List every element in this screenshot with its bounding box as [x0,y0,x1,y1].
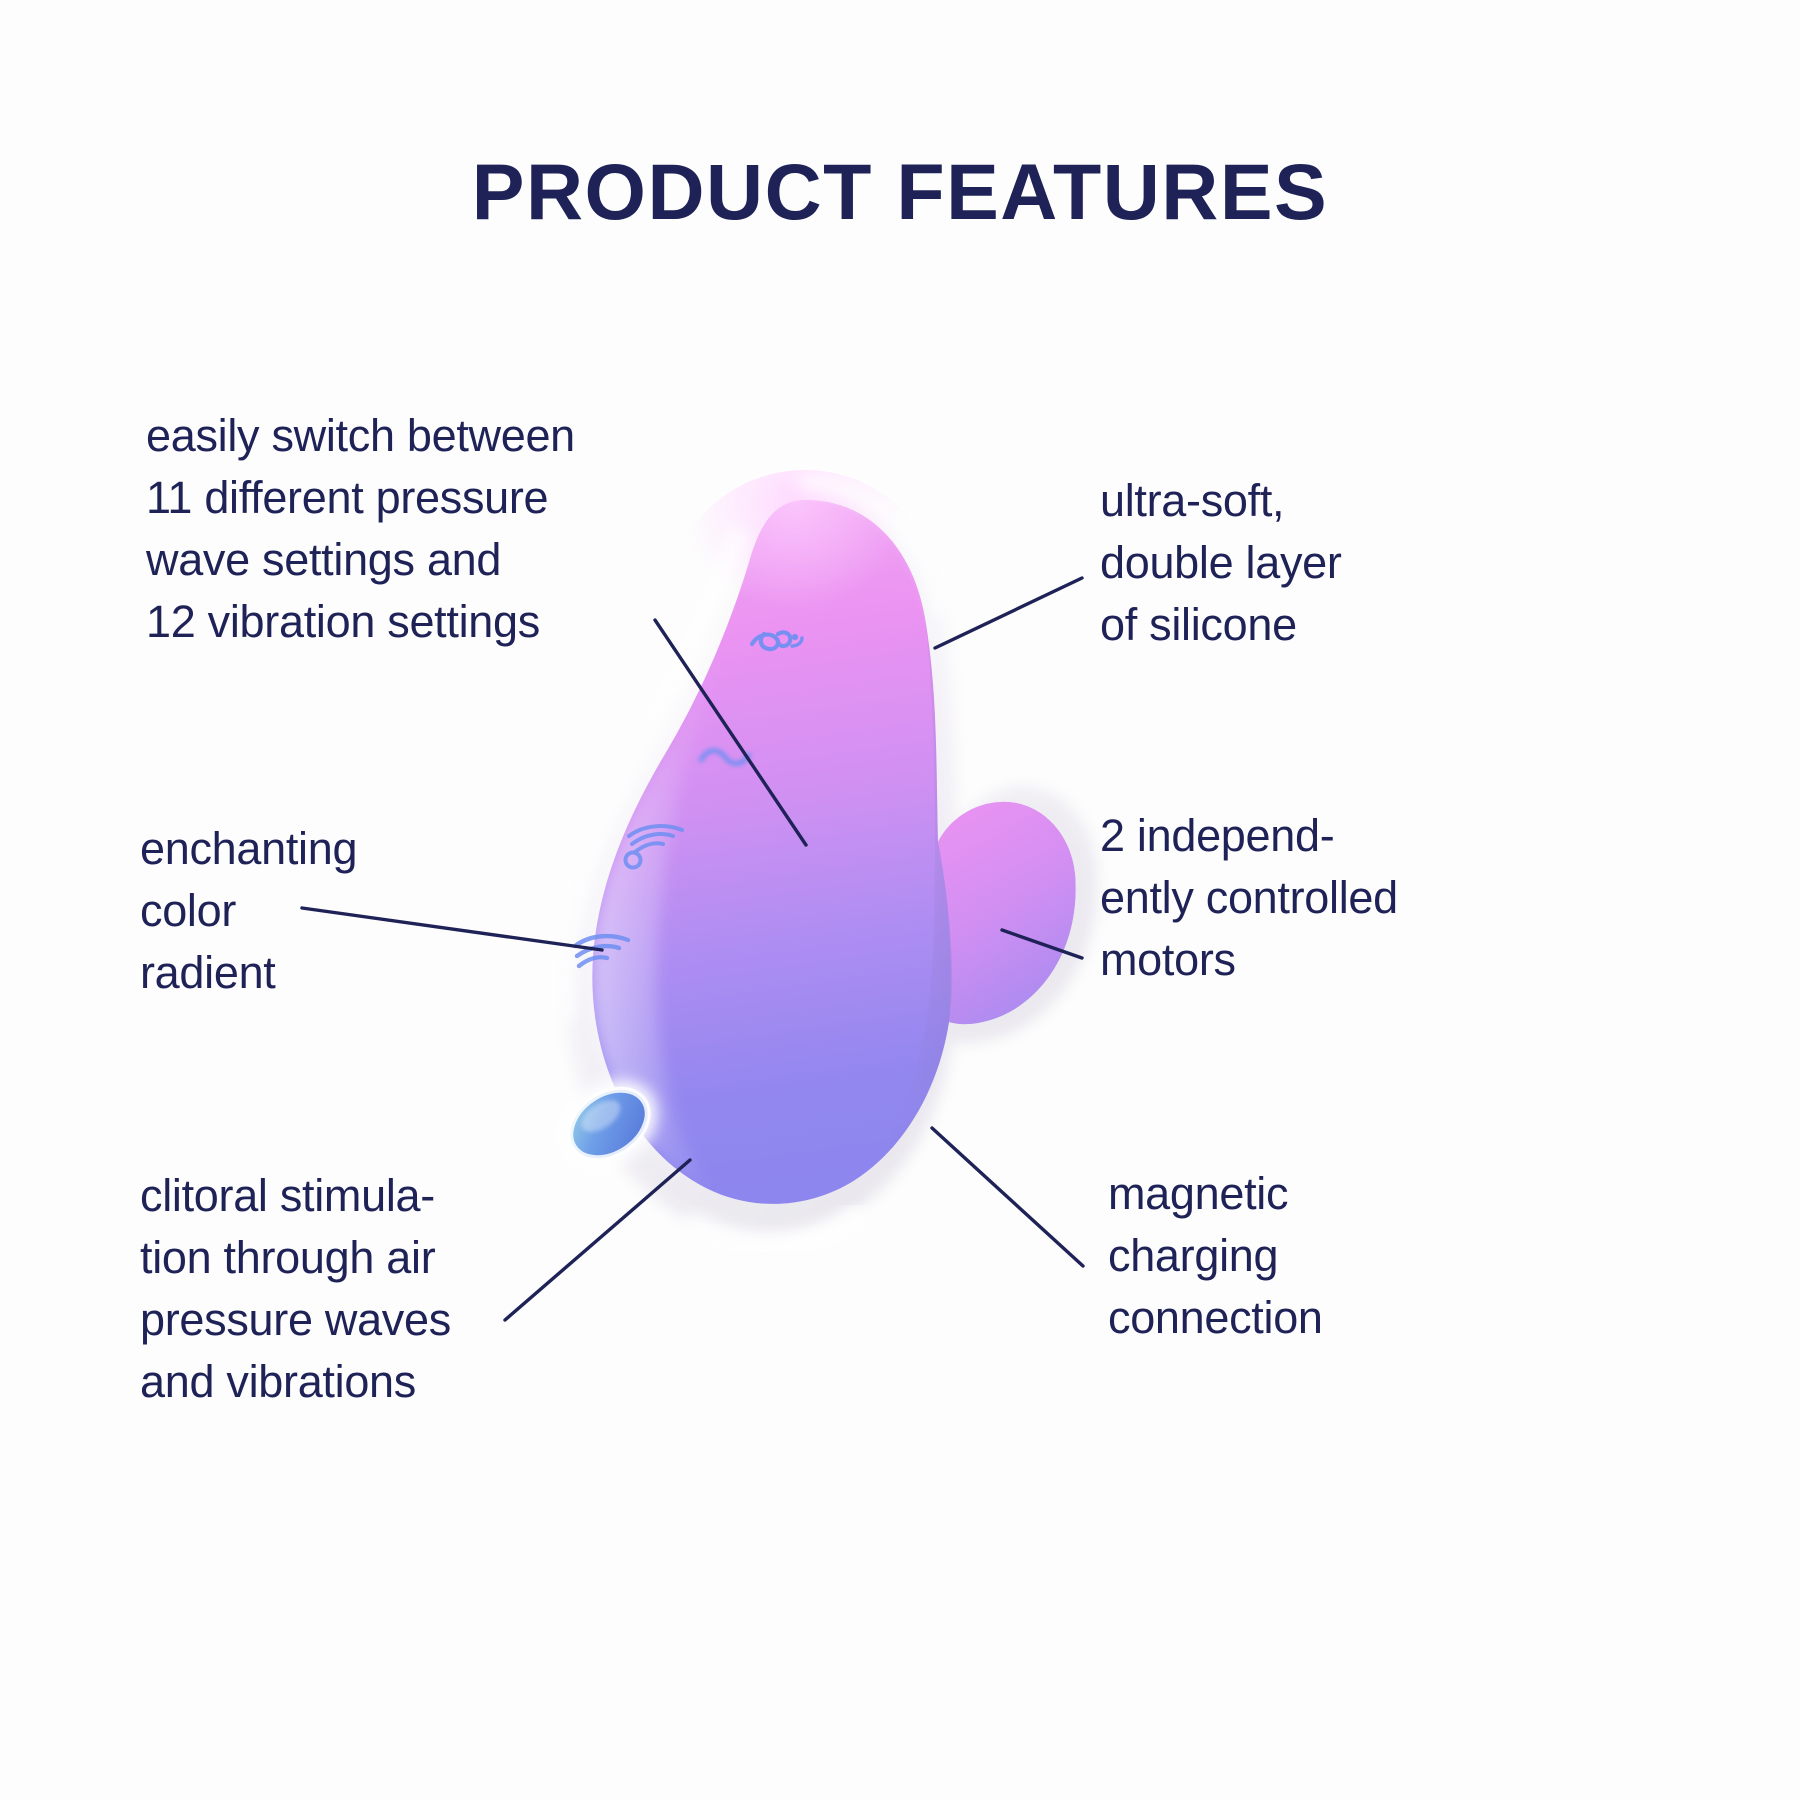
page-title: PRODUCT FEATURES [0,146,1800,238]
callout-label-motors: 2 independ- ently controlled motors [1100,805,1580,991]
callout-label-magnetic: magnetic charging connection [1108,1163,1528,1349]
product-features-infographic: PRODUCT FEATURES [0,0,1800,1800]
callout-label-silicone: ultra-soft, double layer of silicone [1100,470,1520,656]
callout-label-color: enchanting color radient [140,818,560,1004]
callout-label-clitoral: clitoral stimula- tion through air press… [140,1165,660,1413]
callout-label-settings: easily switch between 11 different press… [146,405,706,653]
